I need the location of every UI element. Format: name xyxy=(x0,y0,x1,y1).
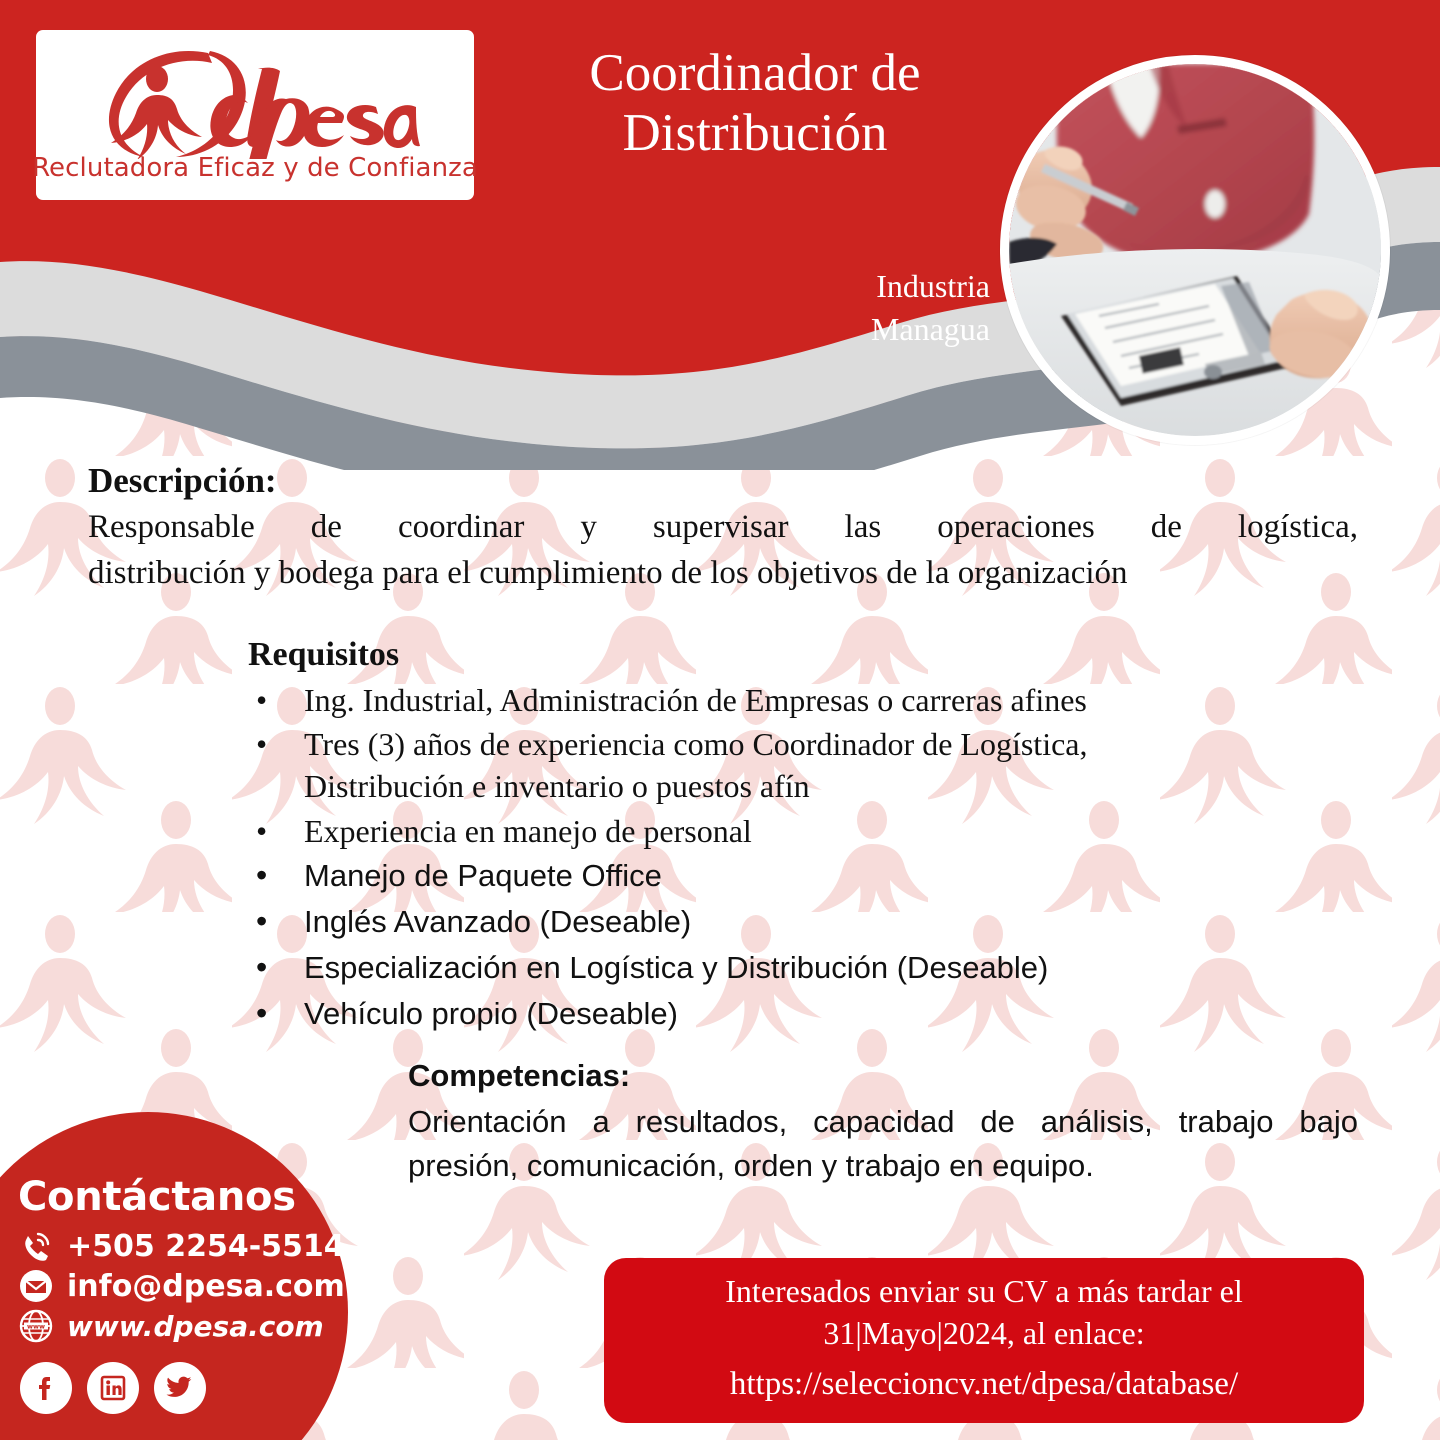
globe-icon: www xyxy=(18,1308,54,1344)
contact-heading: Contáctanos xyxy=(18,1174,338,1220)
social-links xyxy=(20,1362,338,1414)
svg-text:www: www xyxy=(27,1322,45,1330)
job-location: Managua xyxy=(700,308,990,351)
job-meta: Industria Managua xyxy=(700,265,990,350)
linkedin-icon xyxy=(98,1373,128,1403)
requirement-text: Manejo de Paquete Office xyxy=(304,858,662,893)
description-line1: Responsable de coordinar y supervisar la… xyxy=(88,505,1358,551)
job-title: Coordinador de Distribución xyxy=(520,44,990,164)
competencies-line1: Orientación a resultados, capacidad de a… xyxy=(408,1100,1358,1144)
hero-photo xyxy=(1000,55,1390,445)
email-icon xyxy=(18,1268,54,1304)
job-industry: Industria xyxy=(700,265,990,308)
requirement-text-cont: Distribución e inventario o puestos afín xyxy=(304,768,810,804)
bullet-icon: • xyxy=(256,723,267,765)
bullet-icon: • xyxy=(256,900,267,942)
facebook-icon xyxy=(31,1373,61,1403)
description-label: Descripción: xyxy=(88,460,1358,501)
dpesa-logo-icon xyxy=(90,47,420,159)
requirement-item: • Experiencia en manejo de personal xyxy=(248,810,1358,852)
description-text: Responsable de coordinar y supervisar la… xyxy=(88,505,1358,596)
job-title-line1: Coordinador de xyxy=(520,44,990,104)
description-section: Descripción: Responsable de coordinar y … xyxy=(88,460,1358,596)
logo-tagline: Reclutadora Eficaz y de Confianza xyxy=(32,153,478,183)
hero-photo-image xyxy=(1009,64,1381,436)
contact-phone: +505 2254-5514 xyxy=(67,1229,345,1264)
bullet-icon: • xyxy=(256,992,267,1034)
requirement-item: • Inglés Avanzado (Deseable) xyxy=(248,900,1358,944)
contact-website-row[interactable]: www www.dpesa.com xyxy=(18,1308,338,1344)
cta-application-url[interactable]: https://seleccioncv.net/dpesa/database/ xyxy=(730,1363,1238,1406)
competencies-label: Competencias: xyxy=(408,1058,1358,1094)
bullet-icon: • xyxy=(256,854,267,896)
bullet-icon: • xyxy=(256,679,267,721)
requirement-item: • Ing. Industrial, Administración de Emp… xyxy=(248,679,1358,721)
bullet-icon: • xyxy=(256,946,267,988)
contact-phone-row[interactable]: +505 2254-5514 xyxy=(18,1228,338,1264)
company-logo: Reclutadora Eficaz y de Confianza xyxy=(36,30,474,200)
twitter-button[interactable] xyxy=(154,1362,206,1414)
requirement-text: Tres (3) años de experiencia como Coordi… xyxy=(304,726,1087,762)
contact-panel: Contáctanos +505 2254-5514 info@dpesa.co… xyxy=(0,1112,348,1440)
bullet-icon: • xyxy=(256,810,267,852)
description-line2: distribución y bodega para el cumplimien… xyxy=(88,551,1358,597)
contact-email-row[interactable]: info@dpesa.com xyxy=(18,1268,338,1304)
cta-line2: 31|Mayo|2024, al enlace: xyxy=(823,1313,1144,1355)
apply-cta-box[interactable]: Interesados enviar su CV a más tardar el… xyxy=(604,1258,1364,1423)
requirements-list: • Ing. Industrial, Administración de Emp… xyxy=(248,679,1358,1036)
requirement-item: • Especialización en Logística y Distrib… xyxy=(248,946,1358,990)
competencies-section: Competencias: Orientación a resultados, … xyxy=(408,1058,1358,1188)
requirements-section: Requisitos • Ing. Industrial, Administra… xyxy=(248,636,1358,1038)
requirement-text: Experiencia en manejo de personal xyxy=(304,813,752,849)
competencies-line2: presión, comunicación, orden y trabajo e… xyxy=(408,1144,1358,1188)
requirement-item: • Vehículo propio (Deseable) xyxy=(248,992,1358,1036)
contact-website: www.dpesa.com xyxy=(67,1310,324,1343)
job-title-line2: Distribución xyxy=(520,104,990,164)
competencies-text: Orientación a resultados, capacidad de a… xyxy=(408,1100,1358,1188)
requirement-text: Ing. Industrial, Administración de Empre… xyxy=(304,682,1087,718)
twitter-icon xyxy=(165,1373,195,1403)
facebook-button[interactable] xyxy=(20,1362,72,1414)
contact-email: info@dpesa.com xyxy=(67,1269,345,1304)
cta-line1: Interesados enviar su CV a más tardar el xyxy=(725,1271,1242,1313)
requirement-item: • Tres (3) años de experiencia como Coor… xyxy=(248,723,1358,807)
requirement-item: • Manejo de Paquete Office xyxy=(248,854,1358,898)
requirement-text: Especialización en Logística y Distribuc… xyxy=(304,950,1048,985)
job-posting-poster: Reclutadora Eficaz y de Confianza Coordi… xyxy=(0,0,1440,1440)
requirement-text: Inglés Avanzado (Deseable) xyxy=(304,904,691,939)
linkedin-button[interactable] xyxy=(87,1362,139,1414)
requirement-text: Vehículo propio (Deseable) xyxy=(304,996,678,1031)
requirements-title: Requisitos xyxy=(248,636,1358,674)
phone-icon xyxy=(18,1228,54,1264)
